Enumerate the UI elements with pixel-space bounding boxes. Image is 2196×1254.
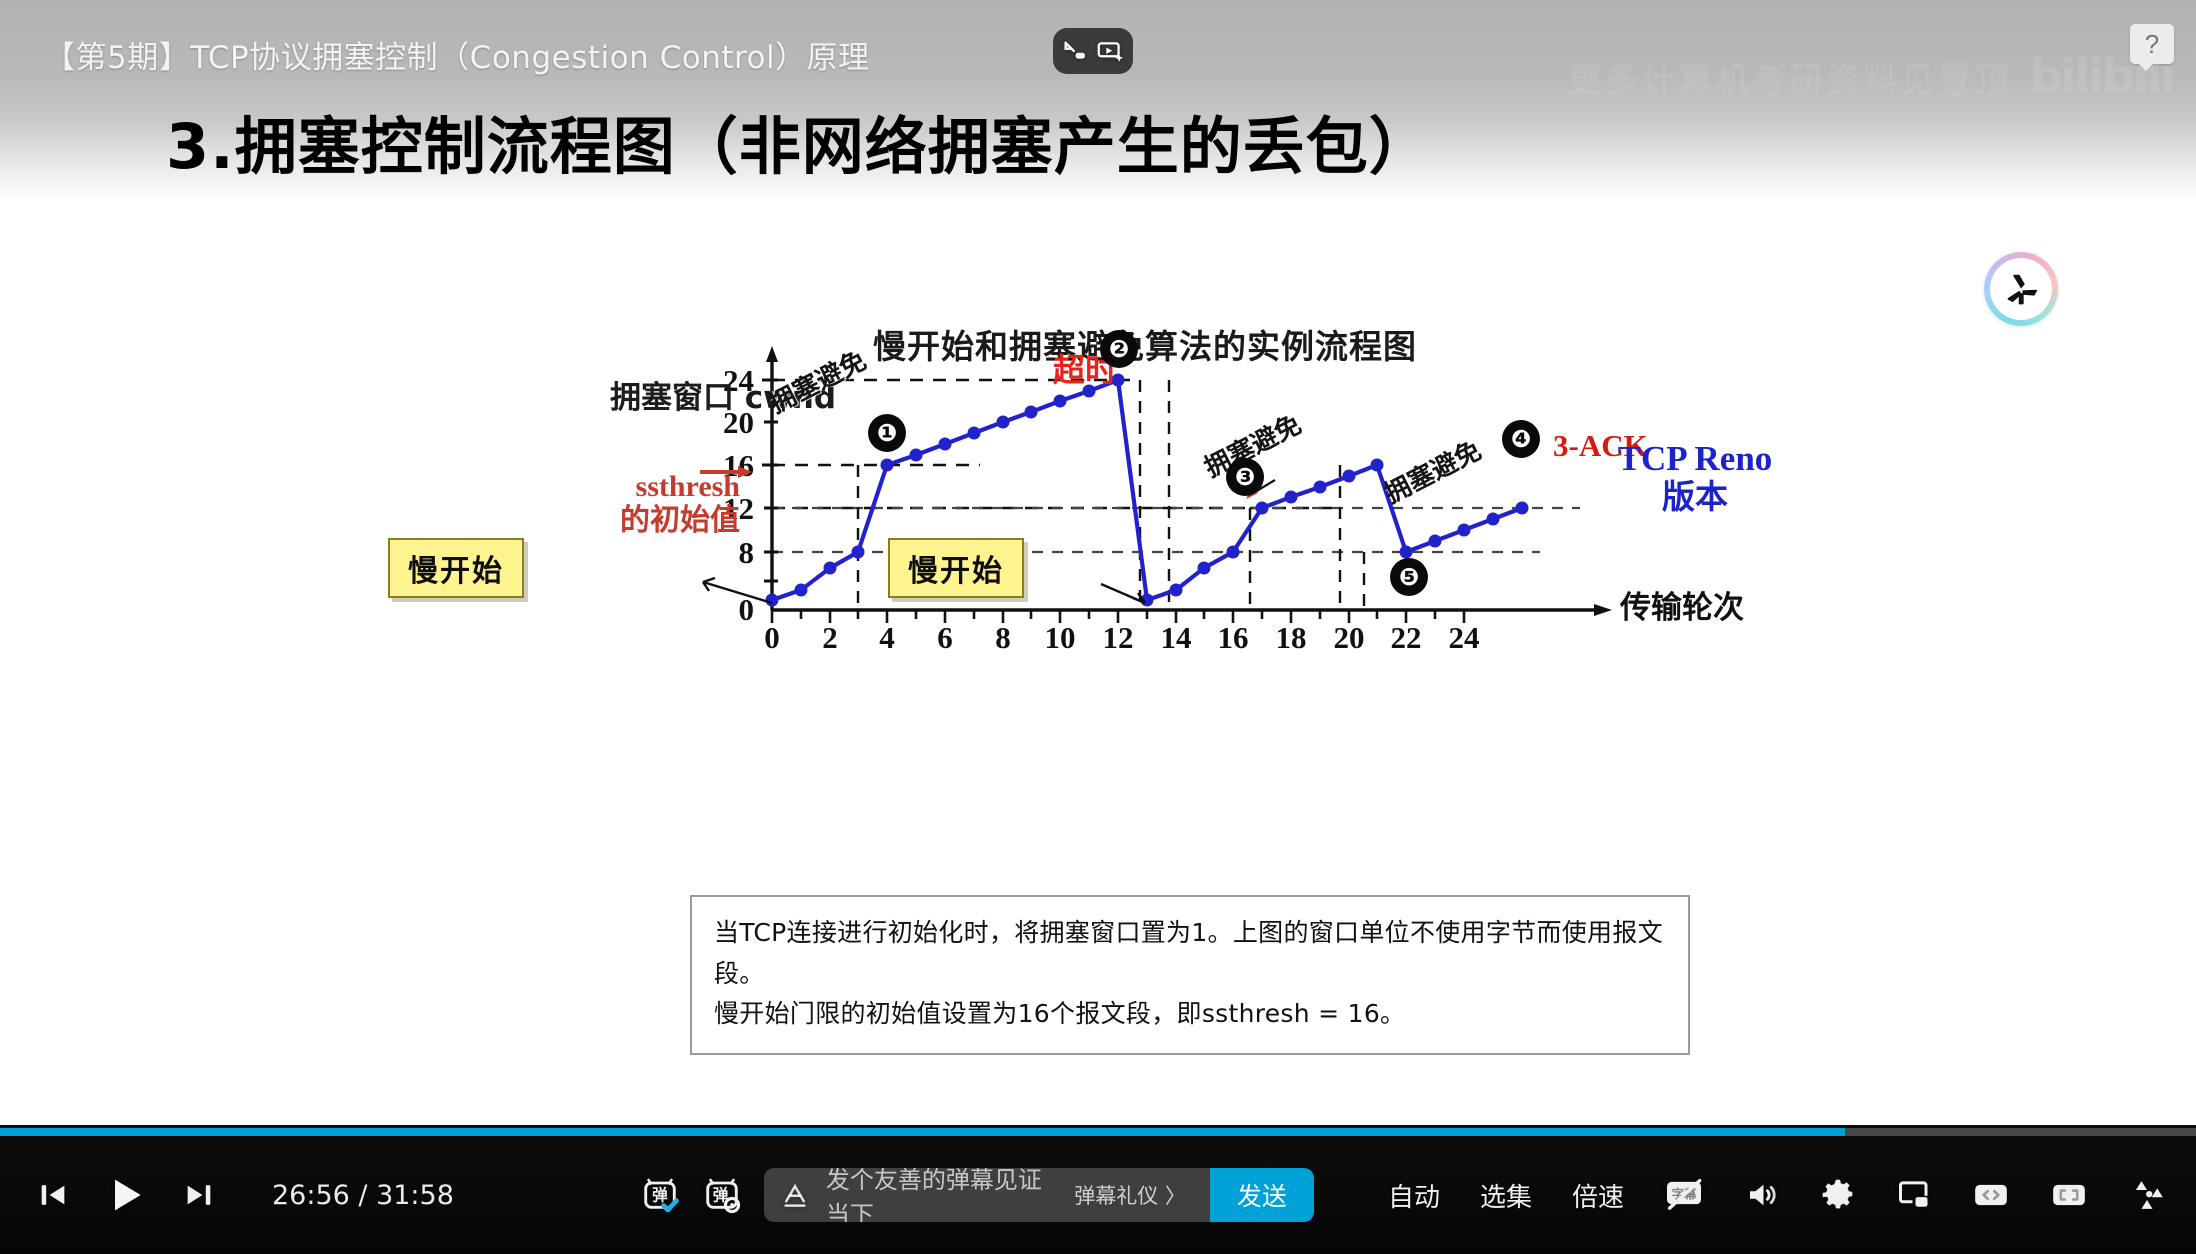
gear-icon[interactable] (1820, 1177, 1856, 1213)
svg-text:8: 8 (739, 535, 755, 570)
danmaku-rule-link[interactable]: 弹幕礼仪 〉 (1074, 1180, 1194, 1210)
svg-text:18: 18 (1276, 620, 1307, 655)
svg-text:12: 12 (1103, 620, 1134, 655)
slide-caption-box: 当TCP连接进行初始化时，将拥塞窗口置为1。上图的窗口单位不使用字节而使用报文段… (690, 895, 1690, 1055)
playback-speed-button[interactable]: 倍速 (1572, 1177, 1624, 1214)
chart-marker-3: ❸ (1226, 458, 1264, 496)
page-title: 3.拥塞控制流程图（非网络拥塞产生的丢包） (166, 96, 1432, 186)
video-stage: 【第5期】TCP协议拥塞控制（Congestion Control）原理 更多计… (0, 0, 2196, 1254)
svg-text:4: 4 (879, 620, 895, 655)
help-badge[interactable]: ? (2130, 24, 2174, 64)
volume-icon[interactable] (1744, 1177, 1780, 1213)
danmaku-font-icon[interactable] (780, 1180, 810, 1210)
player-controls-middle: 弹 弹 发个友善的弹幕见证当下 (640, 1168, 1314, 1222)
overlay-pill-buttons[interactable] (1053, 28, 1133, 74)
svg-text:16: 16 (1218, 620, 1249, 655)
progress-bar[interactable] (0, 1128, 2196, 1136)
danmaku-input[interactable]: 发个友善的弹幕见证当下 弹幕礼仪 〉 发送 (764, 1168, 1314, 1222)
svg-text:24: 24 (723, 363, 754, 398)
caption-line-2: 慢开始门限的初始值设置为16个报文段，即ssthresh = 16。 (714, 994, 1666, 1035)
slide-canvas: 【第5期】TCP协议拥塞控制（Congestion Control）原理 更多计… (0, 0, 2196, 1125)
svg-text:弹: 弹 (652, 1186, 668, 1205)
chart-marker-5: ❺ (1390, 558, 1428, 596)
player-controls-right: 自动 选集 倍速 字幕 (1388, 1177, 2196, 1214)
svg-text:20: 20 (723, 405, 754, 440)
svg-text:22: 22 (1391, 620, 1422, 655)
quality-auto-button[interactable]: 自动 (1388, 1177, 1440, 1214)
time-display: 26:56 / 31:58 (272, 1180, 454, 1211)
svg-text:0: 0 (764, 620, 780, 655)
picture-in-picture-icon[interactable] (1896, 1177, 1932, 1213)
svg-text:2: 2 (822, 620, 838, 655)
next-episode-icon[interactable] (182, 1178, 216, 1212)
video-highlight-icon[interactable] (1097, 37, 1125, 65)
subtitle-off-icon[interactable]: 字幕 (1664, 1178, 1704, 1212)
collapse-screen-icon[interactable] (1061, 37, 1089, 65)
widescreen-icon[interactable] (1972, 1178, 2010, 1212)
channel-watermark: 更多计算机考研资料见置顶 bilibili (1614, 46, 2174, 106)
slow-start-box-2: 慢开始 (888, 538, 1024, 598)
svg-text:20: 20 (1334, 620, 1365, 655)
svg-text:12: 12 (723, 491, 754, 526)
brand-badge-icon[interactable] (1984, 252, 2058, 326)
danmaku-on-icon[interactable]: 弹 (640, 1175, 680, 1215)
svg-text:6: 6 (937, 620, 953, 655)
watermark-text: 更多计算机考研资料见置顶 (1568, 52, 2012, 101)
svg-text:24: 24 (1449, 620, 1480, 655)
chart-marker-2: ❷ (1100, 330, 1138, 368)
danmaku-placeholder[interactable]: 发个友善的弹幕见证当下 (826, 1168, 1058, 1222)
tri-arrow-glyph (2002, 270, 2040, 308)
web-fullscreen-icon[interactable] (2050, 1178, 2088, 1212)
progress-fill (0, 1128, 1845, 1136)
svg-text:8: 8 (995, 620, 1011, 655)
chart-marker-4: ❹ (1502, 420, 1540, 458)
danmaku-settings-icon[interactable]: 弹 (702, 1175, 742, 1215)
episode-list-button[interactable]: 选集 (1480, 1177, 1532, 1214)
player-controls: 26:56 / 31:58 弹 弹 (0, 1136, 2196, 1254)
corner-play-icon (2016, 864, 2116, 940)
play-icon[interactable] (104, 1173, 148, 1217)
brand-badge-inner (1990, 258, 2052, 320)
chart-marker-1: ❶ (868, 414, 906, 452)
fullscreen-icon[interactable] (2128, 1177, 2166, 1213)
send-button[interactable]: 发送 (1210, 1168, 1314, 1222)
svg-text:14: 14 (1161, 620, 1192, 655)
player-controls-left: 26:56 / 31:58 (0, 1173, 454, 1217)
svg-text:10: 10 (1045, 620, 1076, 655)
slow-start-box-1: 慢开始 (388, 538, 524, 598)
caption-line-1: 当TCP连接进行初始化时，将拥塞窗口置为1。上图的窗口单位不使用字节而使用报文段… (714, 913, 1666, 994)
previous-episode-icon[interactable] (36, 1178, 70, 1212)
video-subtitle-overlay: 【第5期】TCP协议拥塞控制（Congestion Control）原理 (44, 32, 870, 77)
